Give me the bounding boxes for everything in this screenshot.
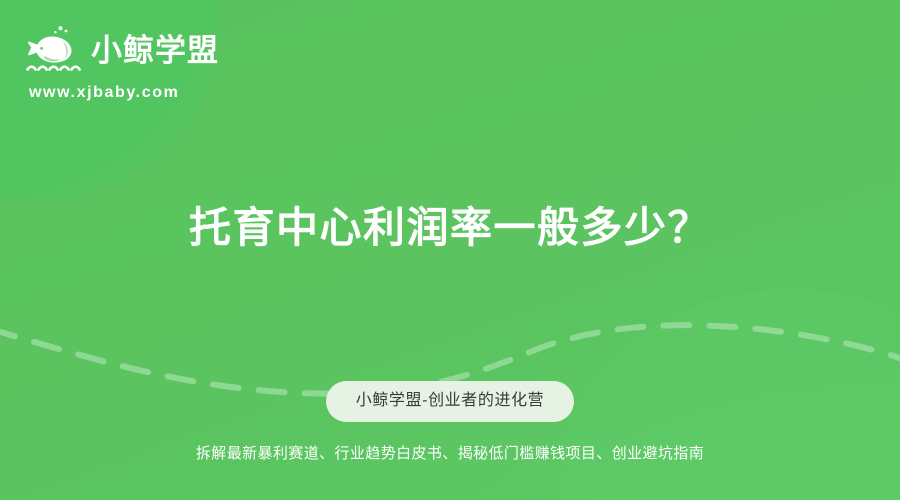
status-badge: 小鲸学盟-创业者的进化营 (326, 381, 575, 422)
page-title: 托育中心利润率一般多少？ (0, 203, 900, 253)
brand-logo-row: 小鲸学盟 (24, 24, 284, 76)
whale-icon (24, 24, 82, 76)
promo-poster: 小鲸学盟 www.xjbaby.com 托育中心利润率一般多少？ 小鲸学盟-创业… (0, 0, 900, 500)
brand-wordmark: 小鲸学盟 (91, 35, 219, 66)
footer-tagline: 拆解最新暴利赛道、行业趋势白皮书、揭秘低门槛赚钱项目、创业避坑指南 (0, 444, 900, 464)
badge-container: 小鲸学盟-创业者的进化营 (0, 381, 900, 422)
brand-website-url: www.xjbaby.com (29, 85, 284, 101)
brand-logo-block: 小鲸学盟 www.xjbaby.com (24, 24, 284, 101)
